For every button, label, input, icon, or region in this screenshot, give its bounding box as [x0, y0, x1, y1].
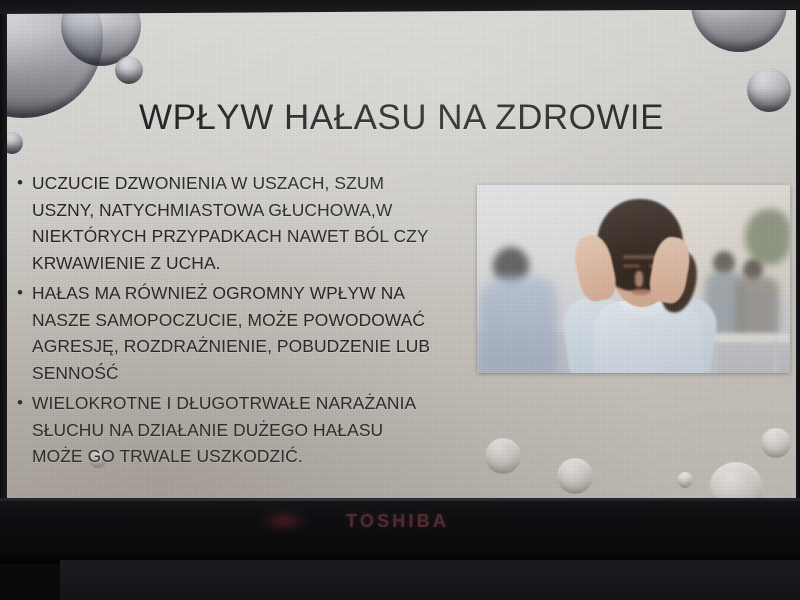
bullet-line: AGRESJĘ, ROZDRAŻNIENIE, POBUDZENIE LUB [32, 333, 430, 360]
image-woman-eye-left [623, 264, 640, 268]
bullet-glyph: • [17, 390, 32, 470]
bubble-bottom-right-small [677, 472, 693, 488]
bullet-line: WIELOKROTNE I DŁUGOTRWAŁE NARAŻANIA [32, 390, 416, 417]
bullet-line: HAŁAS MA RÓWNIEŻ OGROMNY WPŁYW NA [32, 280, 430, 307]
slide-bullet-list: • UCZUCIE DZWONIENIA W USZACH, SZUM USZN… [17, 170, 469, 474]
bullet-glyph: • [17, 170, 32, 276]
bubble-top-left-medium [61, 10, 141, 66]
bubble-bottom-far-right [761, 428, 791, 458]
bullet-line: MOŻE GO TRWALE USZKODZIĆ. [32, 443, 416, 470]
image-blurred-person-far-right-body [735, 277, 779, 339]
laptop-base [60, 560, 800, 600]
status-led-reflection [258, 508, 310, 534]
bullet-line: UCZUCIE DZWONIENIA W USZACH, SZUM [32, 170, 429, 197]
bubble-top-right-large [691, 10, 787, 52]
bullet-line: USZNY, NATYCHMIASTOWA GŁUCHOWA,W [32, 197, 429, 224]
bullet-text: WIELOKROTNE I DŁUGOTRWAŁE NARAŻANIA SŁUC… [32, 390, 416, 470]
bullet-line: NASZE SAMOPOCZUCIE, MOŻE POWODOWAĆ [32, 307, 430, 334]
bullet-text: UCZUCIE DZWONIENIA W USZACH, SZUM USZNY,… [32, 170, 429, 276]
image-woman-mouth [632, 289, 650, 295]
image-plant [745, 209, 790, 265]
bullet-line: SŁUCHU NA DZIAŁANIE DUŻEGO HAŁASU [32, 417, 416, 444]
image-desk-leg [773, 341, 778, 373]
bullet-text: HAŁAS MA RÓWNIEŻ OGROMNY WPŁYW NA NASZE … [32, 280, 430, 386]
bullet-line: SENNOŚĆ [32, 360, 430, 387]
list-item: • WIELOKROTNE I DŁUGOTRWAŁE NARAŻANIA SŁ… [17, 390, 469, 470]
list-item: • UCZUCIE DZWONIENIA W USZACH, SZUM USZN… [17, 170, 469, 276]
bullet-glyph: • [17, 280, 32, 386]
bullet-line: NIEKTÓRYCH PRZYPADKACH NAWET BÓL CZY [32, 223, 429, 250]
slide-image-woman-with-headache [477, 185, 790, 373]
image-blurred-person-left-body [479, 277, 557, 373]
laptop-screen: WPŁYW HAŁASU NA ZDROWIE • UCZUCIE DZWONI… [5, 10, 798, 502]
bubble-bottom-right-large [709, 462, 763, 502]
laptop-brand-logo: TOSHIBA [346, 511, 449, 532]
image-woman-nose [635, 271, 643, 287]
bubble-bottom-center-large [485, 438, 521, 474]
bubble-top-left-small [115, 56, 143, 84]
slide-title: WPŁYW HAŁASU NA ZDROWIE [5, 98, 798, 138]
list-item: • HAŁAS MA RÓWNIEŻ OGROMNY WPŁYW NA NASZ… [17, 280, 469, 386]
photograph-of-laptop-screen: WPŁYW HAŁASU NA ZDROWIE • UCZUCIE DZWONI… [0, 0, 800, 600]
bubble-bottom-center-medium [557, 458, 593, 494]
bullet-line: KRWAWIENIE Z UCHA. [32, 250, 429, 277]
